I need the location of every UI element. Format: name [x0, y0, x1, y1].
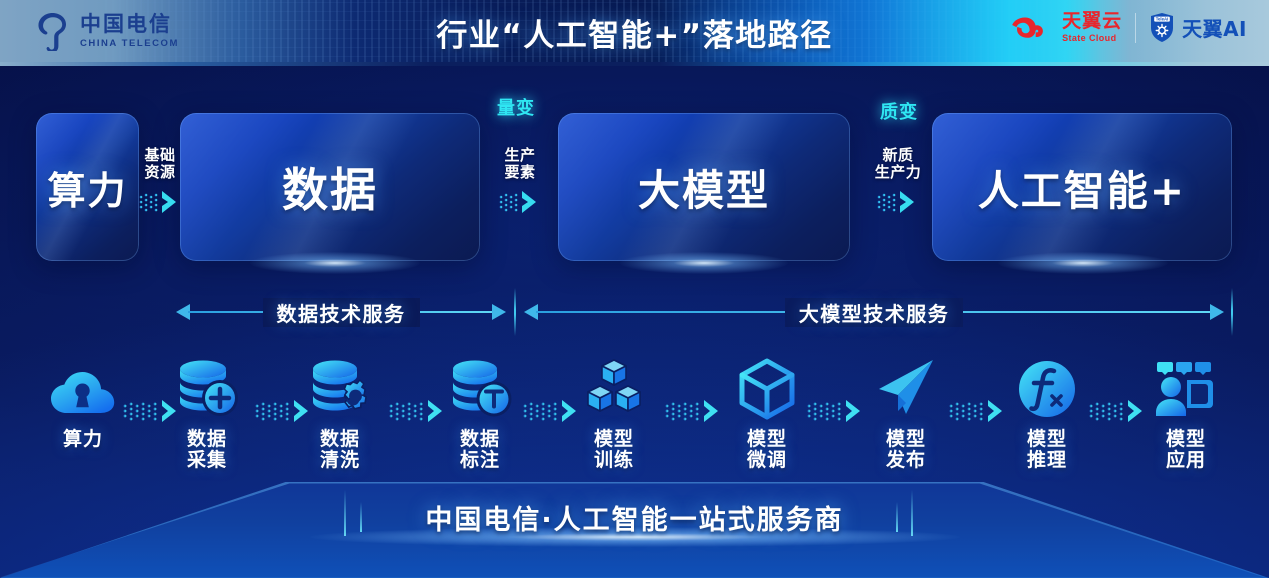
database-gear-icon: [307, 352, 373, 420]
service-band-label: 大模型技术服务: [785, 298, 964, 327]
connector-label-line1: 新质: [882, 146, 913, 164]
service-band-large-model: 大模型技术服务: [524, 290, 1224, 334]
step-label-line1: 数据: [460, 428, 500, 450]
hexagon-cube-icon: [734, 352, 800, 420]
pipeline-step-label: 数据 采集: [187, 429, 227, 472]
pipeline-step-label: 模型 发布: [886, 429, 926, 472]
pipeline-step-model-training[interactable]: 模型 训练: [556, 352, 672, 472]
stage-label-quantitative: 量变: [497, 94, 535, 120]
connector-label-line1: 生产: [504, 146, 535, 164]
database-tag-icon: [447, 352, 513, 420]
stage-label-qualitative: 质变: [880, 98, 918, 124]
pipeline-step-label: 模型 应用: [1166, 429, 1206, 472]
connector-label: 生产 要素: [504, 147, 535, 181]
pipeline-step-data-cleaning[interactable]: 数据 清洗: [282, 352, 398, 472]
service-band-label: 数据技术服务: [263, 298, 420, 327]
slide-canvas: 中国电信 CHINA TELECOM 行业“人工智能+”落地路径 天翼云 Sta…: [0, 0, 1269, 578]
pipeline-step-label: 模型 训练: [594, 429, 634, 472]
step-label-line1: 数据: [187, 428, 227, 450]
service-band-data: 数据技术服务: [176, 290, 506, 334]
header-underline-decoration: [0, 62, 1269, 66]
cubes-icon: [581, 352, 647, 420]
pipeline-step-label: 数据 清洗: [320, 429, 360, 472]
step-label-line1: 模型: [1166, 428, 1206, 450]
tianyi-ai-logo: TeleAI 天翼AI: [1149, 12, 1247, 43]
flow-box-data[interactable]: 数据: [180, 113, 480, 261]
flow-box-large-model[interactable]: 大模型: [558, 113, 850, 261]
header-bar: 中国电信 CHINA TELECOM 行业“人工智能+”落地路径 天翼云 Sta…: [0, 0, 1269, 66]
connector-label-line1: 基础: [144, 146, 175, 164]
arrow-right-icon: [139, 188, 181, 216]
pipeline-step-data-labeling[interactable]: 数据 标注: [422, 352, 538, 472]
pipeline-step-label: 模型 微调: [747, 429, 787, 472]
band-divider: [1231, 288, 1233, 336]
connector-label: 新质 生产力: [875, 147, 922, 181]
step-label-line1: 算力: [63, 428, 103, 450]
tianyi-cloud-logo: 天翼云 State Cloud: [1011, 12, 1122, 43]
footer-slogan: 中国电信·人工智能一站式服务商: [0, 498, 1269, 537]
database-plus-icon: [174, 352, 240, 420]
teleai-shield-icon: TeleAI: [1149, 12, 1175, 43]
pipeline-step-label: 数据 标注: [460, 429, 500, 472]
flow-box-label: 人工智能+: [978, 157, 1186, 217]
arrow-right-icon: [499, 188, 541, 216]
pipeline-step-model-release[interactable]: 模型 发布: [848, 352, 964, 472]
cloud-lock-icon: [49, 352, 117, 420]
paper-plane-icon: [873, 352, 939, 420]
connector-basic-resource: 基础 资源: [139, 147, 181, 216]
arrow-right-icon: [877, 188, 919, 216]
connector-new-productivity: 新质 生产力: [872, 147, 924, 216]
logo-divider: [1135, 13, 1136, 43]
band-divider: [514, 288, 516, 336]
connector-label: 基础 资源: [144, 147, 175, 181]
function-circle-icon: [1014, 352, 1080, 420]
pipeline-step-model-application[interactable]: 模型 应用: [1128, 352, 1244, 472]
tianyi-cloud-name-cn: 天翼云: [1062, 12, 1122, 31]
tianyi-cloud-name-en: State Cloud: [1062, 34, 1122, 43]
connector-label-line2: 资源: [144, 163, 175, 181]
step-label-line1: 模型: [747, 428, 787, 450]
user-app-icon: [1153, 352, 1219, 420]
connector-production-factor: 生产 要素: [499, 147, 541, 216]
connector-label-line2: 要素: [504, 163, 535, 181]
tianyi-cloud-wordmark: 天翼云 State Cloud: [1062, 12, 1122, 43]
pipeline-step-label: 模型 推理: [1027, 429, 1067, 472]
connector-label-line2: 生产力: [875, 163, 922, 181]
pipeline-step-data-collection[interactable]: 数据 采集: [149, 352, 265, 472]
flow-box-compute[interactable]: 算力: [36, 113, 139, 261]
step-label-line1: 数据: [320, 428, 360, 450]
svg-text:TeleAI: TeleAI: [1156, 17, 1169, 22]
tianyi-ai-name-cn: 天翼AI: [1182, 13, 1247, 42]
flow-box-label: 大模型: [638, 157, 770, 218]
partner-logos: 天翼云 State Cloud TeleAI 天翼AI: [1011, 12, 1247, 43]
pipeline-step-label: 算力: [63, 429, 103, 450]
flow-box-label: 数据: [282, 154, 378, 220]
cloud-swirl-icon: [1011, 13, 1055, 42]
flow-box-label: 算力: [47, 160, 127, 215]
step-label-line1: 模型: [594, 428, 634, 450]
step-label-line1: 模型: [886, 428, 926, 450]
flow-box-ai-plus[interactable]: 人工智能+: [932, 113, 1232, 261]
step-label-line1: 模型: [1027, 428, 1067, 450]
